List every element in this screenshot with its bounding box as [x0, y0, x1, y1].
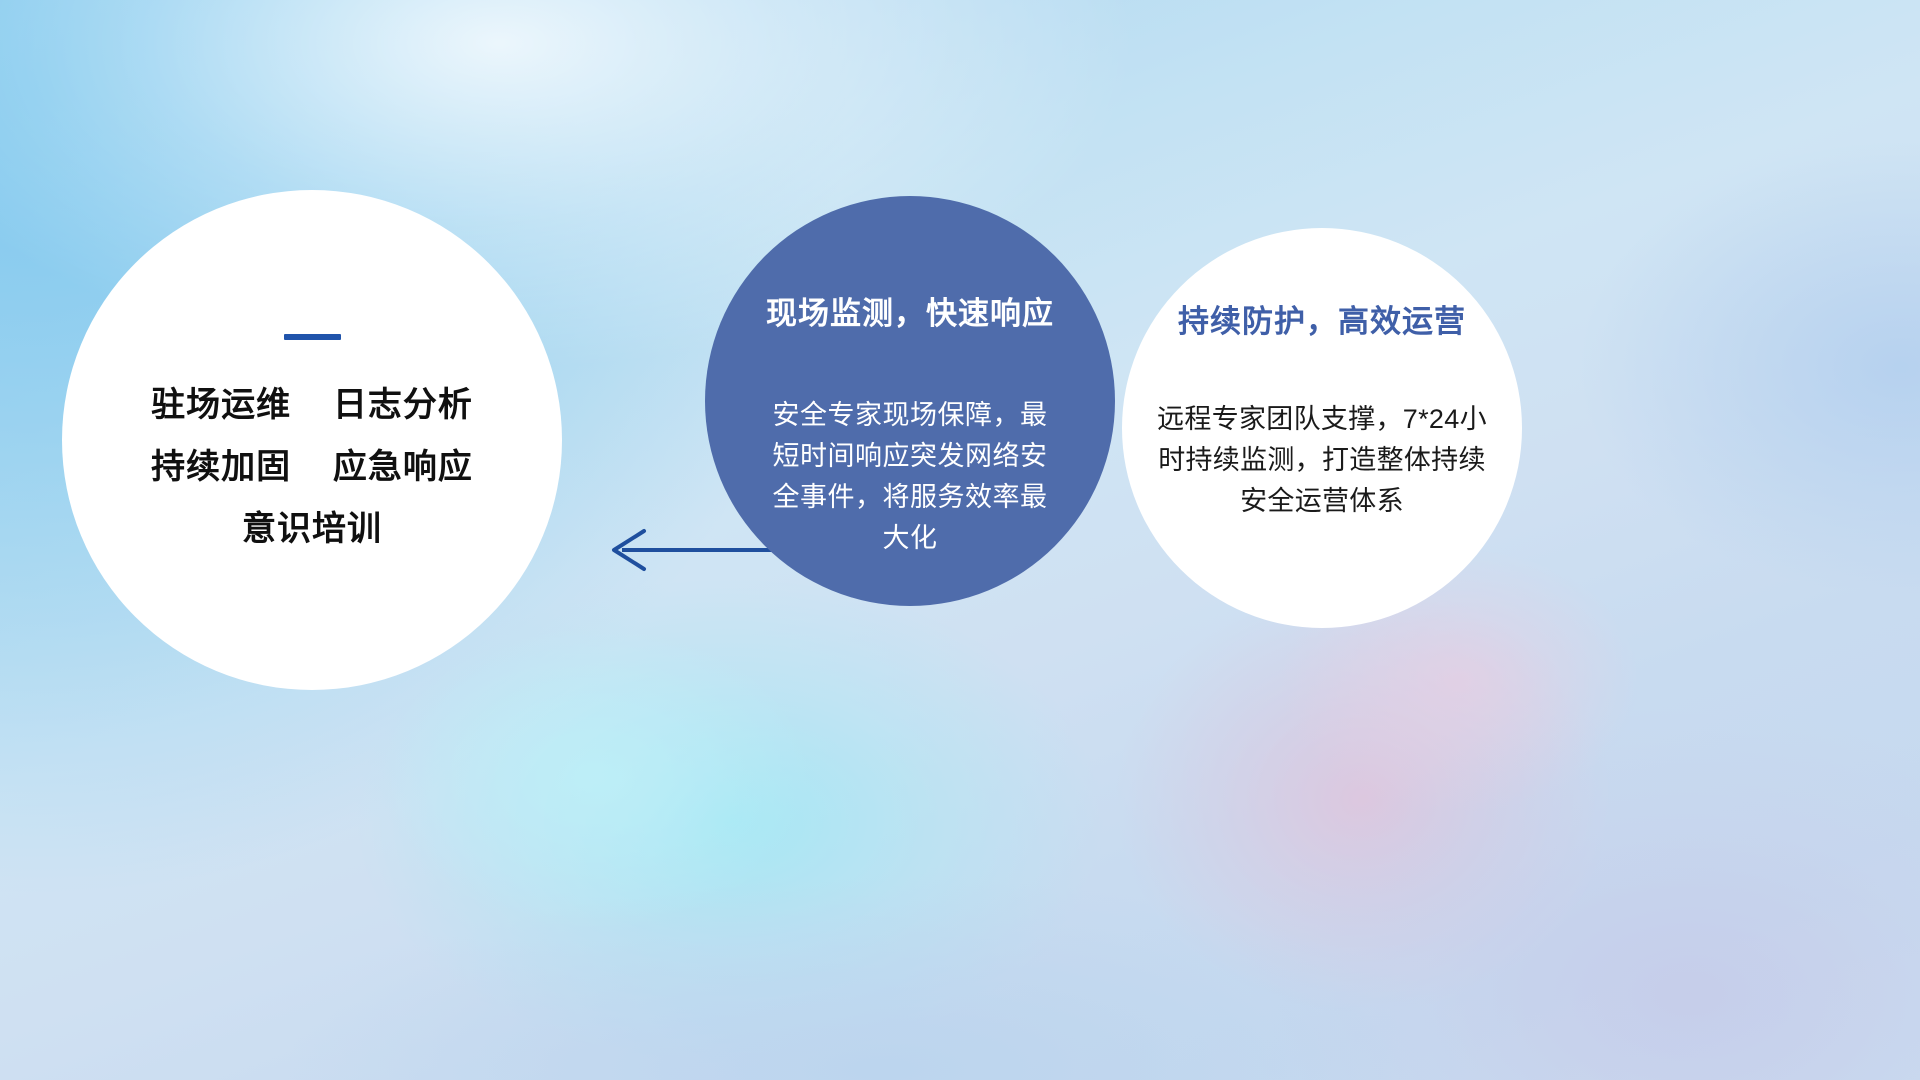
left-divider-dash — [284, 334, 341, 340]
middle-circle-body: 安全专家现场保障，最短时间响应突发网络安全事件，将服务效率最大化 — [760, 395, 1060, 559]
middle-circle-heading: 现场监测，快速响应 — [766, 288, 1054, 333]
left-keyword-row-1: 驻场运维 日志分析 — [151, 388, 473, 422]
right-circle-heading: 持续防护，高效运营 — [1178, 296, 1466, 341]
left-keyword-row-2: 持续加固 应急响应 — [151, 450, 473, 484]
left-circle-content: 驻场运维 日志分析 持续加固 应急响应 意识培训 — [62, 190, 562, 690]
left-keyword-row-3: 意识培训 — [242, 512, 382, 546]
right-circle-body: 远程专家团队支撑，7*24小时持续监测，打造整体持续安全运营体系 — [1152, 399, 1492, 522]
right-circle-content: 持续防护，高效运营 远程专家团队支撑，7*24小时持续监测，打造整体持续安全运营… — [1122, 228, 1522, 628]
slide-canvas: 驻场运维 日志分析 持续加固 应急响应 意识培训 现场监测，快速响应 安全专家现… — [0, 0, 1920, 1080]
middle-circle-content: 现场监测，快速响应 安全专家现场保障，最短时间响应突发网络安全事件，将服务效率最… — [705, 196, 1115, 606]
